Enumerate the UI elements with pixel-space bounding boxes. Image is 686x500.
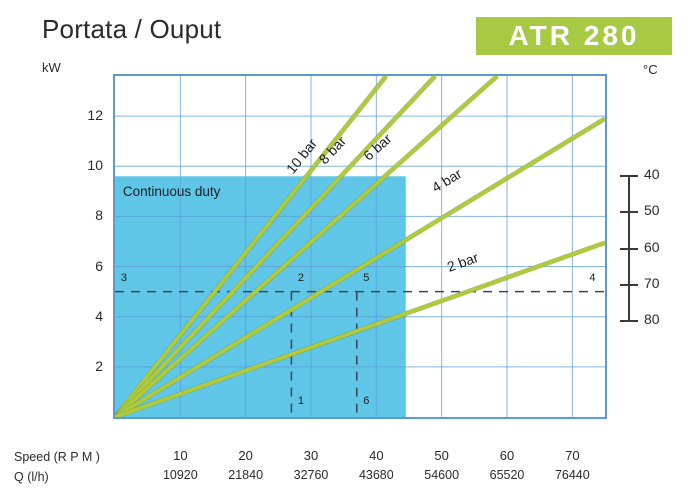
temperature-tick (620, 175, 638, 177)
temperature-tick (620, 284, 638, 286)
chart-canvas (115, 76, 605, 417)
speed-tick-label: 30 (304, 448, 318, 463)
flow-tick-label: 21840 (228, 468, 263, 482)
page-title: Portata / Ouput (42, 14, 221, 45)
temperature-tick-label: 40 (644, 166, 660, 182)
marker-number-1: 1 (298, 395, 304, 407)
temperature-tick-label: 80 (644, 311, 660, 327)
speed-tick-label: 50 (434, 448, 448, 463)
plot-area (113, 74, 607, 419)
flow-tick-label: 76440 (555, 468, 590, 482)
y-axis-tick-label: 8 (63, 207, 103, 223)
marker-number-6: 6 (363, 395, 369, 407)
temperature-tick-label: 60 (644, 239, 660, 255)
y-axis-tick-label: 2 (63, 358, 103, 374)
chart-page: Portata / Ouput ATR 280 kW °C 24681012 1… (0, 0, 686, 500)
y-axis-tick-label: 12 (63, 107, 103, 123)
flow-tick-label: 32760 (294, 468, 329, 482)
y-axis-tick-label: 4 (63, 308, 103, 324)
marker-number-2: 2 (298, 272, 304, 284)
marker-number-3: 3 (121, 272, 127, 284)
model-badge: ATR 280 (476, 17, 672, 55)
temperature-tick (620, 248, 638, 250)
y-axis-tick-label: 10 (63, 157, 103, 173)
temperature-tick (620, 211, 638, 213)
marker-number-5: 5 (363, 272, 369, 284)
speed-axis-label: Speed (R P M ) (14, 450, 100, 464)
flow-tick-label: 54600 (424, 468, 459, 482)
right-axis-unit: °C (643, 62, 658, 77)
flow-tick-label: 65520 (490, 468, 525, 482)
speed-tick-label: 10 (173, 448, 187, 463)
left-axis-unit: kW (42, 60, 61, 75)
flow-tick-label: 10920 (163, 468, 198, 482)
marker-number-4: 4 (589, 272, 595, 284)
temperature-tick (620, 320, 638, 322)
flow-tick-label: 43680 (359, 468, 394, 482)
speed-tick-label: 40 (369, 448, 383, 463)
temperature-tick-label: 70 (644, 275, 660, 291)
speed-tick-label: 60 (500, 448, 514, 463)
temperature-tick-label: 50 (644, 202, 660, 218)
flow-axis-label: Q (l/h) (14, 470, 49, 484)
continuous-duty-label: Continuous duty (123, 184, 221, 199)
speed-tick-label: 70 (565, 448, 579, 463)
speed-tick-label: 20 (238, 448, 252, 463)
model-badge-label: ATR 280 (509, 22, 640, 50)
y-axis-tick-label: 6 (63, 258, 103, 274)
